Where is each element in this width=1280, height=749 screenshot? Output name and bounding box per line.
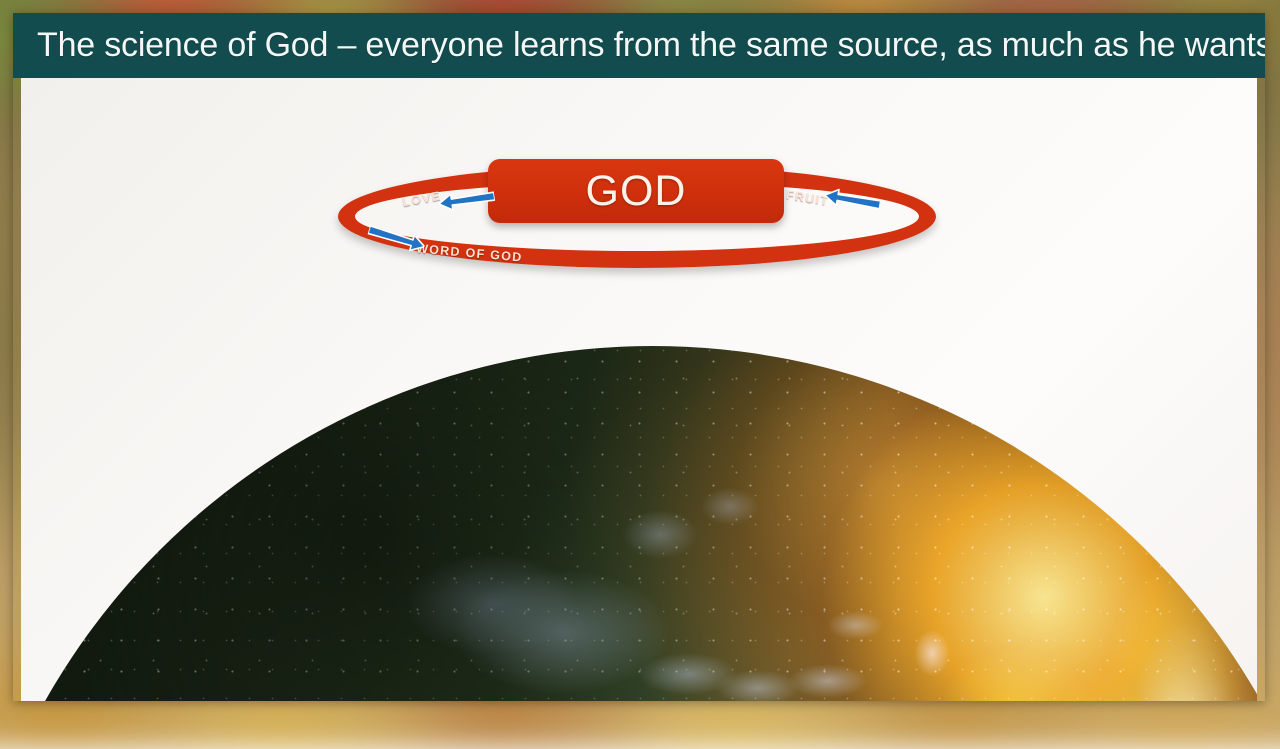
- god-center-label: GOD: [586, 170, 687, 213]
- slide-title: The science of God – everyone learns fro…: [13, 26, 1265, 65]
- slide-title-bar: The science of God – everyone learns fro…: [13, 13, 1265, 78]
- god-center-box[interactable]: GOD: [488, 159, 784, 223]
- presentation-slide: The science of God – everyone learns fro…: [13, 13, 1265, 701]
- slide-body: GOD LOVE FRUIT WORD OF GOD: [21, 78, 1257, 701]
- god-source-ring-diagram: GOD LOVE FRUIT WORD OF GOD: [21, 78, 1257, 701]
